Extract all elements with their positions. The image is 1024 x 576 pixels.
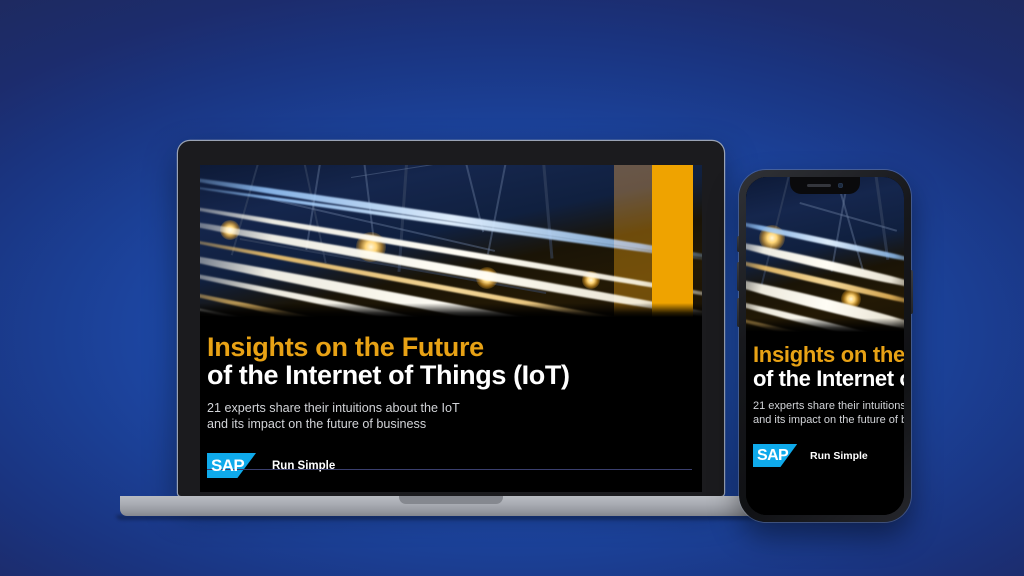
sap-tagline: Run Simple [810,450,868,462]
sap-brand-text: SAP [211,456,244,476]
poster-title-line1: Insights on the Future [753,344,904,367]
poster-laptop: Insights on the Future of the Internet o… [200,165,702,492]
scene-root: Insights on the Future of the Internet o… [0,0,1024,576]
poster-title-line2: of the Internet of Things (IoT) [207,361,702,391]
poster-text-block-mobile: Insights on the Future of the Internet o… [746,332,904,515]
poster-subtitle-line1: 21 experts share their intuitions about … [207,400,702,417]
sap-logo-lockup: SAP Run Simple [753,444,904,467]
amber-overlay-solid [652,165,693,317]
phone-screen: Insights on the Future of the Internet o… [746,177,904,515]
poster-photo-mobile [746,177,904,332]
sap-brand-text: SAP [757,447,788,465]
phone-camera-icon [838,183,842,187]
poster-subtitle-line1: 21 experts share their intuitions about … [753,399,904,414]
power-button[interactable] [911,270,913,314]
laptop-screen: Insights on the Future of the Internet o… [200,165,702,492]
photo-bottom-fade [200,303,702,317]
phone-speaker-icon [807,184,831,187]
phone-device: Insights on the Future of the Internet o… [739,170,911,522]
poster-photo [200,165,702,317]
poster-subtitle-line2: and its impact on the future of business [207,416,702,433]
sap-logo-icon: SAP [207,453,256,478]
poster-divider [207,469,692,470]
amber-overlay-soft [614,165,652,317]
laptop-device: Insights on the Future of the Internet o… [178,141,724,496]
poster-text-block: Insights on the Future of the Internet o… [200,317,702,492]
poster-phone: Insights on the Future of the Internet o… [746,177,904,515]
poster-title-line2: of the Internet of Things (IoT) [753,367,904,391]
sap-logo-lockup: SAP Run Simple [207,453,702,478]
poster-subtitle-line2: and its impact on the future of business [753,413,904,428]
phone-notch-icon [790,177,860,194]
poster-title-line1: Insights on the Future [207,333,702,361]
laptop-base-notch-icon [399,496,503,504]
sap-logo-icon: SAP [753,444,797,467]
photo-bottom-fade [746,318,904,332]
